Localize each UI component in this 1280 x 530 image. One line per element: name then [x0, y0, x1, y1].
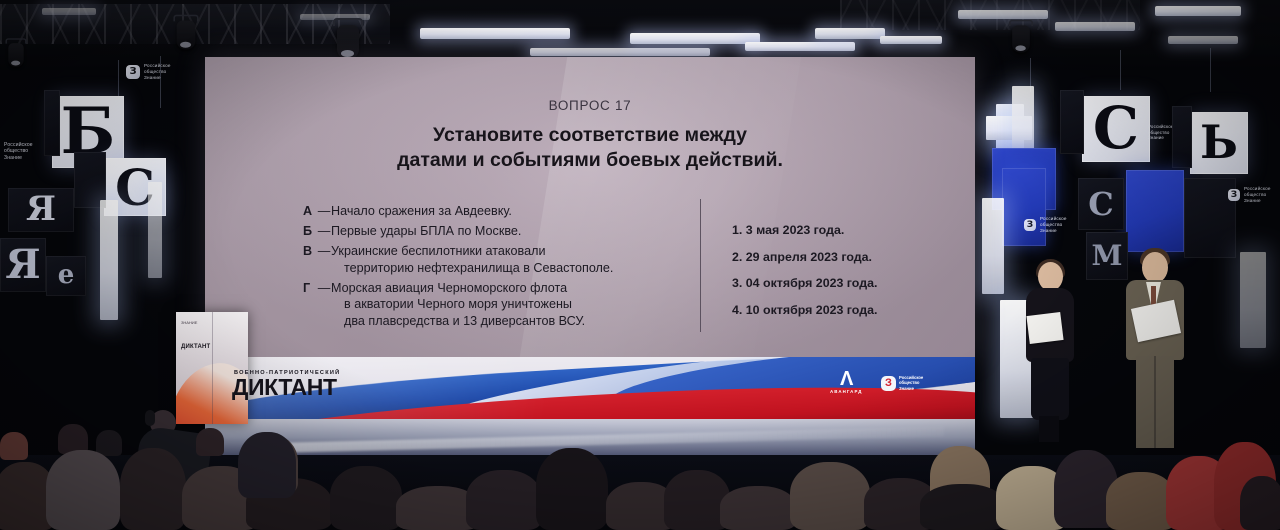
- audience-head: [330, 466, 402, 530]
- ceiling-light-bar: [420, 28, 570, 39]
- audience-head: [46, 450, 120, 530]
- znanie-mark-icon: З: [126, 65, 140, 79]
- question-title-line-1: Установите соответствие между: [205, 123, 975, 148]
- znanie-mark-icon: З: [881, 376, 896, 391]
- answer-columns: А — Начало сражения за Авдеевку. Б — Пер…: [205, 203, 975, 343]
- znanie-logo-text: Российское общество Знание: [1244, 186, 1271, 204]
- decor-light-panel: [1012, 86, 1034, 156]
- rigging-wire: [118, 60, 119, 100]
- decor-light-panel: [982, 198, 1004, 294]
- column-divider: [700, 199, 701, 332]
- znanie-mark-icon: З: [1024, 219, 1036, 231]
- decor-light-panel: [1240, 252, 1266, 348]
- diktant-title: ДИКТАНТ: [232, 377, 340, 398]
- question-title: Установите соответствие между датами и с…: [205, 123, 975, 174]
- dates-column: 1. 3 мая 2023 года. 2. 29 апреля 2023 го…: [732, 223, 947, 329]
- znanie-logo-text: Российское общество Знание: [899, 375, 923, 391]
- decor-letter-glyph: М: [1092, 245, 1123, 268]
- ceiling-light-bar: [1168, 36, 1238, 44]
- avangard-chevron-icon: Λ: [830, 370, 862, 388]
- znanie-logo-banner: З Российское общество Знание: [881, 375, 923, 391]
- decor-letter-glyph: Я: [26, 196, 56, 224]
- event-dash: —: [317, 203, 331, 220]
- question-number-label: ВОПРОС 17: [205, 98, 975, 113]
- presenter-female: [1022, 262, 1078, 442]
- audience-head: [1240, 476, 1280, 530]
- ceiling-light-bar: [1055, 22, 1135, 31]
- znanie-logo: Российское общество Знание: [4, 142, 33, 161]
- decor-letter-cube: С: [1078, 178, 1124, 230]
- presenter-male: [1120, 252, 1190, 448]
- rigging-wire: [1120, 50, 1121, 90]
- presenter-leg-split: [1154, 356, 1156, 448]
- presenter-head: [1142, 252, 1168, 283]
- date-item: 2. 29 апреля 2023 года.: [732, 250, 947, 264]
- decor-letter-cube: Я: [8, 188, 74, 232]
- audience-head: [790, 462, 870, 530]
- decor-letter-cube: Я: [0, 238, 46, 292]
- event-key: Г: [303, 280, 317, 331]
- znanie-logo-text: Российское общество Знание: [144, 63, 171, 81]
- decor-letter-glyph: Я: [5, 249, 40, 282]
- decor-cube-side: [1060, 90, 1084, 154]
- ceiling-light-bar: [880, 36, 942, 44]
- event-item: В — Украинские беспилотники атаковали те…: [303, 243, 695, 277]
- znanie-mark-icon: З: [1228, 189, 1240, 201]
- znanie-logo: Российское общество Знание: [1148, 124, 1174, 141]
- decor-letter-cube: Ь: [1190, 112, 1248, 174]
- presenter-legs: [1039, 416, 1059, 442]
- decor-cube-side: [1172, 106, 1192, 168]
- ceiling-light-bar: [630, 33, 760, 44]
- audience-head: [466, 470, 542, 530]
- decor-cube-blue: [1126, 170, 1184, 252]
- crew-headset-icon: [145, 410, 155, 426]
- presenter-skirt: [1031, 358, 1069, 420]
- event-key: Б: [303, 223, 317, 240]
- slide: ВОПРОС 17 Установите соответствие между …: [205, 57, 975, 357]
- decor-light-panel: [148, 182, 162, 278]
- event-text: Морская авиация Черноморского флота в ак…: [331, 280, 695, 331]
- date-item: 1. 3 мая 2023 года.: [732, 223, 947, 237]
- event-text-line-1: Первые удары БПЛА по Москве.: [331, 224, 521, 238]
- event-item: А — Начало сражения за Авдеевку.: [303, 203, 695, 220]
- decor-letter-glyph: Ь: [1200, 124, 1238, 162]
- audience-head: [238, 432, 296, 498]
- presenter-papers: [1026, 312, 1063, 344]
- event-key: А: [303, 203, 317, 220]
- audience-head: [96, 430, 122, 456]
- ceiling-light-bar: [1155, 6, 1241, 16]
- decor-letter-glyph: е: [58, 265, 75, 286]
- ceiling-light-bar: [42, 8, 96, 15]
- decor-cube-blue: [1002, 168, 1046, 246]
- floor-light-streak: [251, 426, 944, 453]
- ceiling-light-bar: [958, 10, 1048, 19]
- diktant-wordmark: ВОЕННО-ПАТРИОТИЧЕСКИЙ ДИКТАНТ: [232, 370, 340, 398]
- znanie-logo: З Российское общество Знание: [1228, 186, 1271, 204]
- presentation-screen: ВОПРОС 17 Установите соответствие между …: [205, 57, 975, 357]
- rigging-wire: [1210, 48, 1211, 92]
- event-text-line-2: территорию нефтехранилища в Севастополе.: [331, 260, 695, 277]
- presenter-head: [1038, 262, 1063, 291]
- decor-letter-glyph: Б: [61, 106, 116, 158]
- avangard-logo: Λ АВАНГАРД: [830, 370, 862, 394]
- stage-scene: З Российское общество Знание Б С Российс…: [0, 0, 1280, 530]
- rollup-top-text: ЗНАНИЕ: [181, 320, 197, 325]
- audience-head: [0, 432, 28, 460]
- event-text: Первые удары БПЛА по Москве.: [331, 223, 695, 240]
- znanie-logo-text: Российское общество Знание: [1040, 216, 1067, 234]
- stage-spotlight: [1012, 25, 1030, 52]
- question-title-line-2: датами и событиями боевых действий.: [205, 148, 975, 173]
- znanie-logo-text: Российское общество Знание: [4, 142, 33, 161]
- event-dash: —: [317, 280, 331, 331]
- decor-cube-side: [44, 90, 60, 156]
- decor-letter-glyph: С: [1093, 105, 1139, 153]
- decor-light-panel: [100, 200, 118, 320]
- znanie-logo-text: Российское общество Знание: [1148, 124, 1174, 141]
- event-dash: —: [317, 223, 331, 240]
- event-item: Г — Морская авиация Черноморского флота …: [303, 280, 695, 331]
- audience-head: [720, 486, 796, 530]
- decor-letter-glyph: С: [1088, 191, 1113, 217]
- date-item: 4. 10 октября 2023 года.: [732, 303, 947, 317]
- audience-head: [536, 448, 608, 530]
- event-item: Б — Первые удары БПЛА по Москве.: [303, 223, 695, 240]
- date-item: 3. 04 октября 2023 года.: [732, 276, 947, 290]
- stage-spotlight: [177, 21, 196, 50]
- events-column: А — Начало сражения за Авдеевку. Б — Пер…: [303, 203, 695, 333]
- event-text: Украинские беспилотники атаковали террит…: [331, 243, 695, 277]
- avangard-label: АВАНГАРД: [830, 389, 862, 394]
- ceiling-light-bar: [815, 28, 885, 39]
- decor-letter-cube: С: [1082, 96, 1150, 162]
- stage-spotlight: [337, 25, 359, 59]
- znanie-logo: З Российское общество Знание: [126, 63, 171, 81]
- event-text: Начало сражения за Авдеевку.: [331, 203, 695, 220]
- event-key: В: [303, 243, 317, 277]
- audience-head: [120, 448, 186, 530]
- znanie-logo: З Российское общество Знание: [1024, 216, 1067, 234]
- ceiling-light-bar: [530, 48, 710, 56]
- event-text-line-2: в акватории Черного моря уничтожены: [331, 296, 695, 313]
- event-text-line-1: Украинские беспилотники атаковали: [331, 244, 545, 258]
- audience-head: [196, 428, 224, 456]
- event-text-line-1: Морская авиация Черноморского флота: [331, 281, 567, 295]
- event-dash: —: [317, 243, 331, 277]
- audience-head: [920, 484, 1006, 530]
- event-text-line-1: Начало сражения за Авдеевку.: [331, 204, 512, 218]
- event-text-line-3: два плавсредства и 13 диверсантов ВСУ.: [331, 313, 695, 330]
- stage-spotlight: [8, 43, 23, 67]
- ceiling-light-bar: [745, 42, 855, 51]
- decor-letter-cube: е: [46, 256, 86, 296]
- flag-banner: ВОЕННО-ПАТРИОТИЧЕСКИЙ ДИКТАНТ Λ АВАНГАРД…: [205, 357, 975, 419]
